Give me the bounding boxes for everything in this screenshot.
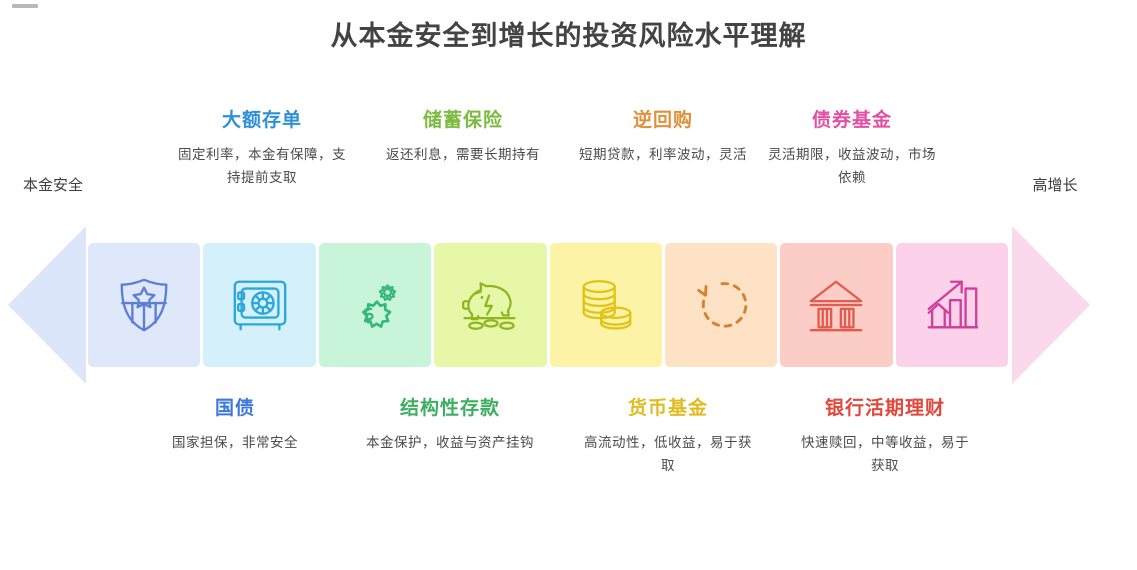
coin-stack-icon (575, 274, 637, 336)
page-title: 从本金安全到增长的投资风险水平理解 (0, 14, 1137, 53)
callout-title: 逆回购 (573, 110, 753, 133)
callout-bottom-1: 国债 国家担保，非常安全 (145, 398, 325, 454)
callout-title: 大额存单 (172, 110, 352, 133)
tile-bank-building[interactable] (780, 243, 892, 367)
callout-bottom-4: 银行活期理财 快速赎回，中等收益，易于获取 (795, 398, 975, 478)
callout-title: 储蓄保险 (373, 110, 553, 133)
callout-desc: 固定利率，本金有保障，支持提前支取 (172, 143, 352, 190)
callout-desc: 灵活期限，收益波动，市场依赖 (762, 143, 942, 190)
tile-shield-star[interactable] (88, 243, 200, 367)
safe-vault-icon (229, 274, 291, 336)
risk-spectrum-strip (88, 243, 1008, 367)
bank-building-icon (805, 274, 867, 336)
arrow-left-icon (8, 226, 86, 384)
growth-chart-icon (921, 274, 983, 336)
callout-top-4: 债券基金 灵活期限，收益波动，市场依赖 (762, 110, 942, 190)
callout-title: 国债 (145, 398, 325, 421)
callout-desc: 高流动性，低收益，易于获取 (578, 431, 758, 478)
callout-desc: 国家担保，非常安全 (145, 431, 325, 455)
tile-coin-stack[interactable] (550, 243, 662, 367)
tile-growth-chart[interactable] (896, 243, 1008, 367)
callout-title: 债券基金 (762, 110, 942, 133)
tile-circular-arrow[interactable] (665, 243, 777, 367)
callout-top-2: 储蓄保险 返还利息，需要长期持有 (373, 110, 553, 166)
callout-title: 货币基金 (578, 398, 758, 421)
callout-top-1: 大额存单 固定利率，本金有保障，支持提前支取 (172, 110, 352, 190)
callout-top-3: 逆回购 短期贷款，利率波动，灵活 (573, 110, 753, 166)
broken-piggy-bank-icon (458, 274, 522, 336)
axis-label-left: 本金安全 (0, 174, 108, 195)
callout-desc: 本金保护，收益与资产挂钩 (360, 431, 540, 455)
callout-desc: 快速赎回，中等收益，易于获取 (795, 431, 975, 478)
arrow-right-icon (1012, 226, 1090, 384)
tile-broken-piggy-bank[interactable] (434, 243, 546, 367)
tile-safe-vault[interactable] (203, 243, 315, 367)
callout-bottom-3: 货币基金 高流动性，低收益，易于获取 (578, 398, 758, 478)
callout-title: 银行活期理财 (795, 398, 975, 421)
callout-desc: 短期贷款，利率波动，灵活 (573, 143, 753, 167)
tile-gears-dollar[interactable] (319, 243, 431, 367)
callout-desc: 返还利息，需要长期持有 (373, 143, 553, 167)
circular-arrow-icon (690, 274, 752, 336)
top-accent-bar (12, 4, 38, 8)
axis-label-right: 高增长 (1000, 174, 1110, 195)
infographic-canvas: 从本金安全到增长的投资风险水平理解 本金安全 高增长 (0, 0, 1137, 570)
callout-title: 结构性存款 (360, 398, 540, 421)
shield-star-icon (113, 274, 175, 336)
gears-dollar-icon (344, 274, 406, 336)
callout-bottom-2: 结构性存款 本金保护，收益与资产挂钩 (360, 398, 540, 454)
